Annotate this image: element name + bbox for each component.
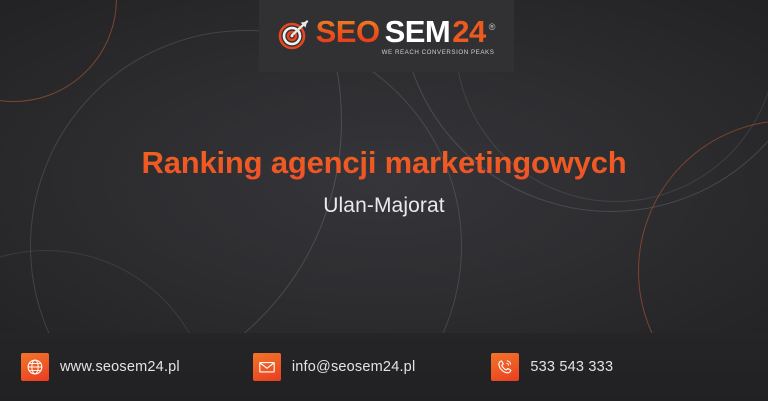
presentation-slide: SEO SEM 24 ® WE REACH CONVERSION PEAKS R… <box>0 0 768 401</box>
decorative-circle-orange-top-left <box>0 0 117 102</box>
brand-logo-wordmark: SEO SEM 24 ® WE REACH CONVERSION PEAKS <box>316 16 496 56</box>
globe-icon <box>21 353 49 381</box>
brand-logo[interactable]: SEO SEM 24 ® WE REACH CONVERSION PEAKS <box>259 0 514 72</box>
brand-word-24: 24 <box>452 16 485 47</box>
brand-logo-inner: SEO SEM 24 ® WE REACH CONVERSION PEAKS <box>278 16 496 56</box>
phone-icon <box>491 353 519 381</box>
contact-item-website[interactable]: www.seosem24.pl <box>21 333 180 401</box>
envelope-icon <box>253 353 281 381</box>
registered-trademark-icon: ® <box>489 23 496 32</box>
target-bullseye-icon <box>278 18 310 55</box>
contact-footer-bar: www.seosem24.pl info@seosem24.pl 533 543… <box>0 333 768 401</box>
contact-email-label: info@seosem24.pl <box>292 359 416 375</box>
contact-item-phone[interactable]: 533 543 333 <box>491 333 613 401</box>
brand-word-sem: SEM <box>385 16 451 47</box>
brand-tagline: WE REACH CONVERSION PEAKS <box>316 49 495 56</box>
contact-website-label: www.seosem24.pl <box>60 359 180 375</box>
brand-word-seo: SEO <box>316 16 380 47</box>
brand-logo-words: SEO SEM 24 ® <box>316 16 496 47</box>
page-subtitle: Ulan-Majorat <box>0 194 768 218</box>
hero-text-block: Ranking agencji marketingowych Ulan-Majo… <box>0 145 768 218</box>
page-title: Ranking agencji marketingowych <box>0 145 768 181</box>
contact-item-email[interactable]: info@seosem24.pl <box>253 333 416 401</box>
contact-phone-label: 533 543 333 <box>530 359 613 375</box>
